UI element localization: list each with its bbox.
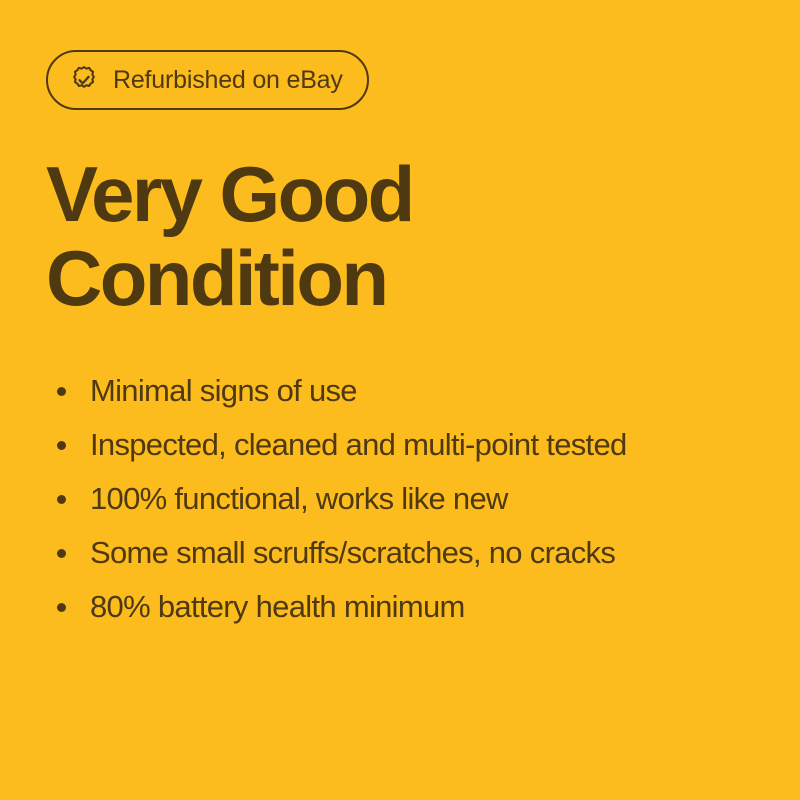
refurbished-condition-card: Refurbished on eBay Very Good Condition …	[0, 0, 800, 800]
list-item-label: Inspected, cleaned and multi-point teste…	[90, 428, 627, 462]
list-item-label: Minimal signs of use	[90, 374, 357, 408]
condition-headline: Very Good Condition	[46, 152, 706, 320]
list-item-label: 80% battery health minimum	[90, 590, 465, 624]
list-item: 80% battery health minimum	[48, 580, 778, 634]
condition-feature-list: Minimal signs of use Inspected, cleaned …	[48, 364, 778, 634]
bullet-dot-icon	[57, 549, 66, 558]
list-item: Minimal signs of use	[48, 364, 778, 418]
list-item: Some small scruffs/scratches, no cracks	[48, 526, 778, 580]
bullet-dot-icon	[57, 441, 66, 450]
refurbished-badge-label: Refurbished on eBay	[113, 68, 343, 93]
list-item: 100% functional, works like new	[48, 472, 778, 526]
bullet-dot-icon	[57, 387, 66, 396]
verified-rosette-check-icon	[69, 65, 99, 95]
list-item: Inspected, cleaned and multi-point teste…	[48, 418, 778, 472]
headline-line-1: Very Good	[46, 152, 706, 236]
bullet-dot-icon	[57, 495, 66, 504]
list-item-label: Some small scruffs/scratches, no cracks	[90, 536, 615, 570]
refurbished-badge: Refurbished on eBay	[46, 50, 369, 110]
list-item-label: 100% functional, works like new	[90, 482, 508, 516]
headline-line-2: Condition	[46, 236, 706, 320]
bullet-dot-icon	[57, 603, 66, 612]
